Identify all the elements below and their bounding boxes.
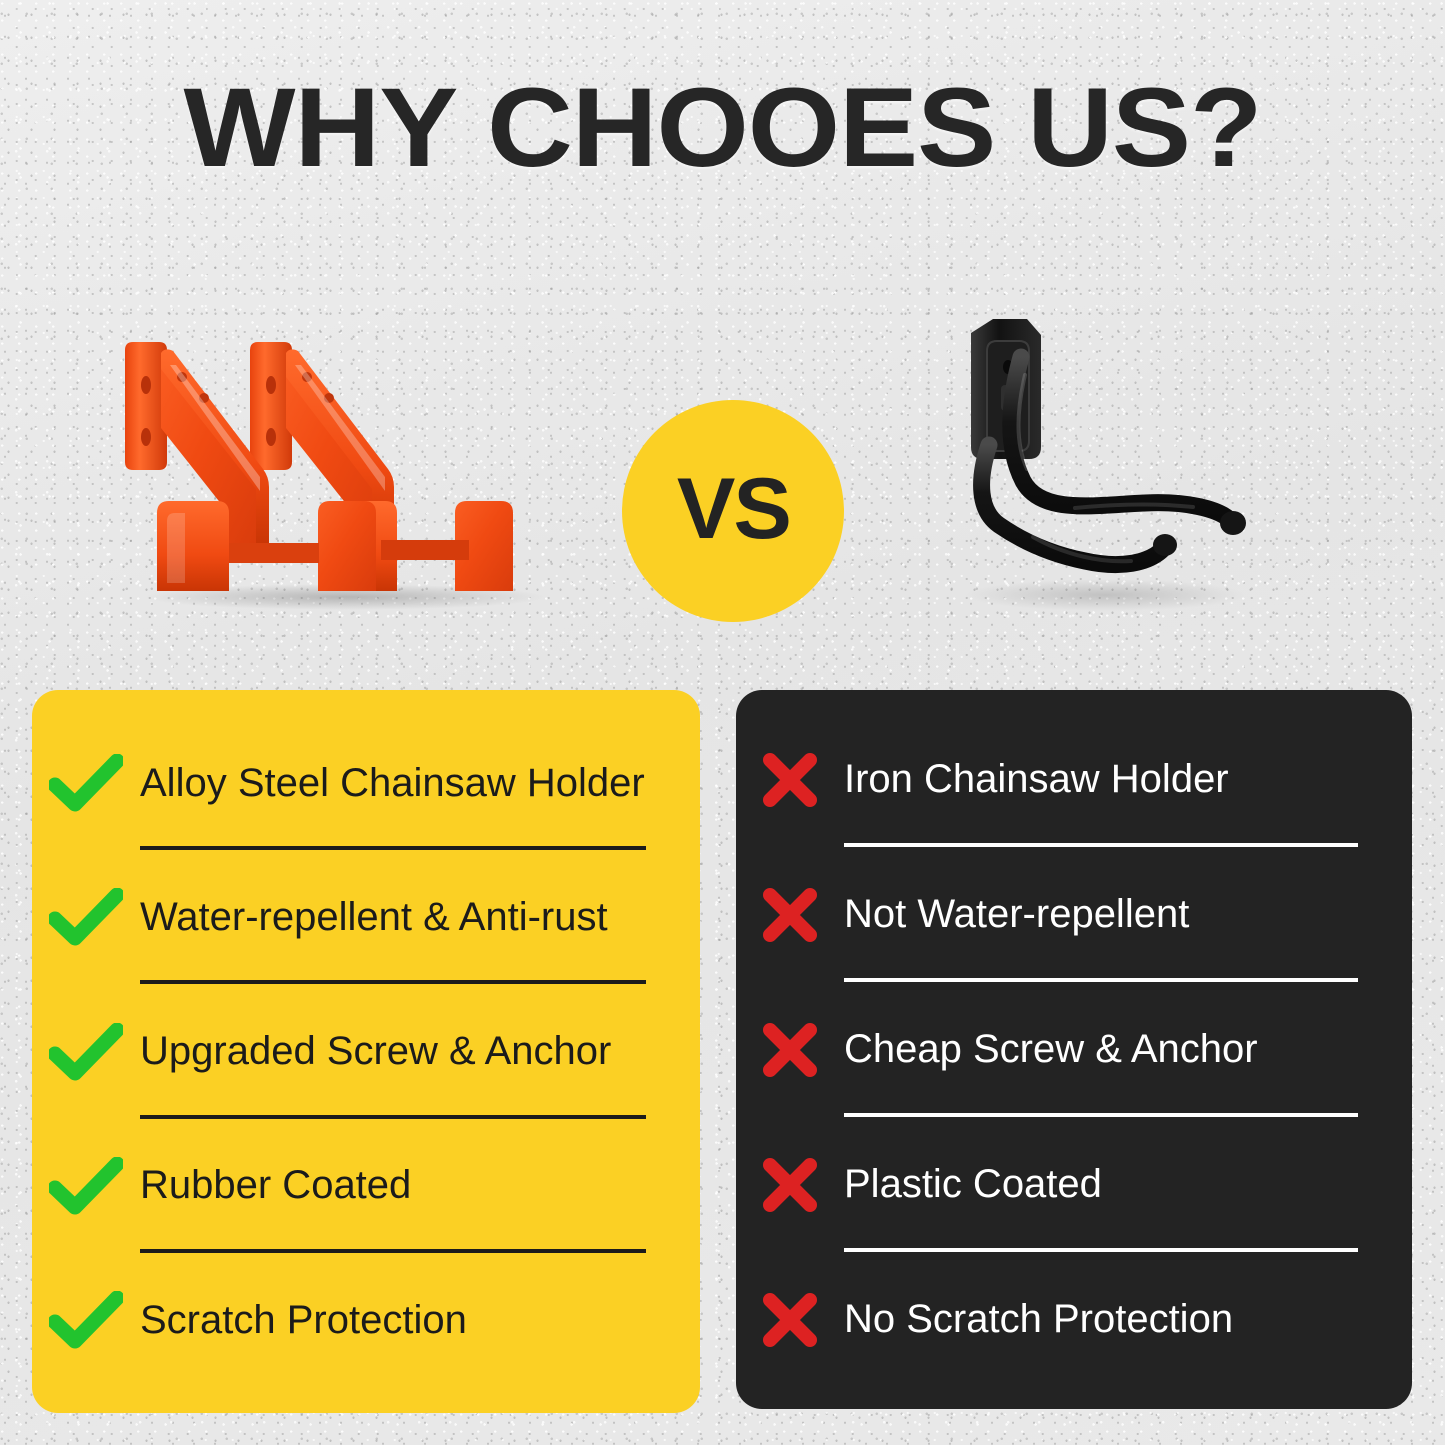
- cons-row: Plastic Coated: [736, 1117, 1392, 1252]
- check-icon: [32, 1157, 140, 1215]
- cons-panel: Iron Chainsaw Holder Not Water-repellent…: [736, 690, 1412, 1409]
- pros-item-label: Water-repellent & Anti-rust: [140, 895, 680, 940]
- cross-icon: [736, 1018, 844, 1082]
- pros-item-label: Alloy Steel Chainsaw Holder: [140, 761, 680, 806]
- cons-row: Not Water-repellent: [736, 847, 1392, 982]
- page-title: WHY CHOOES US?: [0, 72, 1445, 184]
- pros-row: Upgraded Screw & Anchor: [32, 984, 680, 1118]
- check-icon: [32, 888, 140, 946]
- cons-item-label: Plastic Coated: [844, 1162, 1392, 1207]
- cross-icon: [736, 1153, 844, 1217]
- pros-row: Rubber Coated: [32, 1119, 680, 1253]
- pros-item-label: Scratch Protection: [140, 1298, 680, 1343]
- pros-item-label: Rubber Coated: [140, 1163, 680, 1208]
- pros-row: Alloy Steel Chainsaw Holder: [32, 716, 680, 850]
- vs-badge: VS: [622, 400, 844, 622]
- product-image-alloy-steel-holder: [95, 325, 585, 625]
- check-icon: [32, 1023, 140, 1081]
- check-icon: [32, 754, 140, 812]
- vs-label: VS: [677, 466, 790, 552]
- cons-item-label: Iron Chainsaw Holder: [844, 757, 1392, 802]
- cons-row: Iron Chainsaw Holder: [736, 712, 1392, 847]
- infographic-canvas: WHY CHOOES US?: [0, 0, 1445, 1445]
- pros-row: Scratch Protection: [32, 1253, 680, 1387]
- cons-item-label: No Scratch Protection: [844, 1297, 1392, 1342]
- cons-row: Cheap Screw & Anchor: [736, 982, 1392, 1117]
- cross-icon: [736, 883, 844, 947]
- black-hook-illustration: [925, 305, 1275, 625]
- pros-panel: Alloy Steel Chainsaw Holder Water-repell…: [32, 690, 700, 1413]
- pros-row: Water-repellent & Anti-rust: [32, 850, 680, 984]
- cross-icon: [736, 1288, 844, 1352]
- cross-icon: [736, 748, 844, 812]
- cons-item-label: Cheap Screw & Anchor: [844, 1027, 1392, 1072]
- pros-item-label: Upgraded Screw & Anchor: [140, 1029, 680, 1074]
- orange-bracket-illustration: [95, 325, 585, 625]
- cons-row: No Scratch Protection: [736, 1252, 1392, 1387]
- product-image-iron-hook: [925, 305, 1275, 625]
- cons-item-label: Not Water-repellent: [844, 892, 1392, 937]
- check-icon: [32, 1291, 140, 1349]
